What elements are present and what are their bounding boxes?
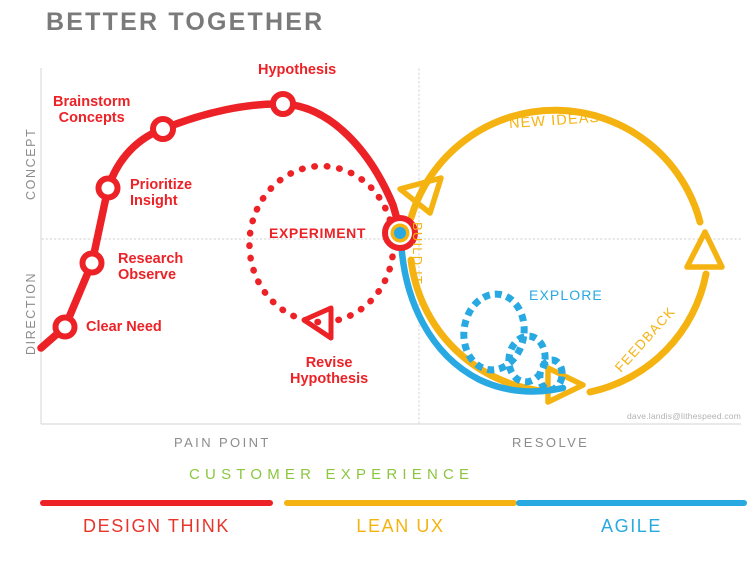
x-axis-title-customer-experience: CUSTOMER EXPERIENCE xyxy=(189,467,474,484)
spiral-label-explore: EXPLORE xyxy=(529,288,603,304)
design-think-nodes xyxy=(56,94,294,337)
x-axis-label-pain-point: PAIN POINT xyxy=(174,436,271,451)
y-axis-label-concept: CONCEPT xyxy=(24,128,38,200)
x-axis-label-resolve: RESOLVE xyxy=(512,436,589,451)
node-label-clear-need: Clear Need xyxy=(86,319,162,335)
legend-bar-agile xyxy=(516,500,747,506)
node-label-revise-hypothesis: Revise Hypothesis xyxy=(290,355,368,387)
experiment-loop xyxy=(249,166,393,322)
loop-label-experiment: EXPERIMENT xyxy=(269,226,366,242)
legend-label-lean-ux: LEAN UX xyxy=(284,516,517,537)
node-label-research-observe: Research Observe xyxy=(118,251,183,283)
diagram-canvas: BETTER TOGETHER CONCEPT DIRECTION PAIN P… xyxy=(0,0,752,563)
node-label-brainstorm-concepts: Brainstorm Concepts xyxy=(53,94,130,126)
legend-label-agile: AGILE xyxy=(516,516,747,537)
page-title: BETTER TOGETHER xyxy=(46,8,324,36)
node-label-hypothesis: Hypothesis xyxy=(258,62,336,78)
author-credit: dave.landis@lithespeed.com xyxy=(627,412,741,422)
y-axis-label-direction: DIRECTION xyxy=(24,272,38,355)
legend-label-design-think: DESIGN THINK xyxy=(40,516,273,537)
cycle-label-build-it: BUILD IT xyxy=(409,222,424,285)
legend-bar-lean-ux xyxy=(284,500,517,506)
node-label-prioritize-insight: Prioritize Insight xyxy=(130,177,192,209)
legend-bar-design-think xyxy=(40,500,273,506)
